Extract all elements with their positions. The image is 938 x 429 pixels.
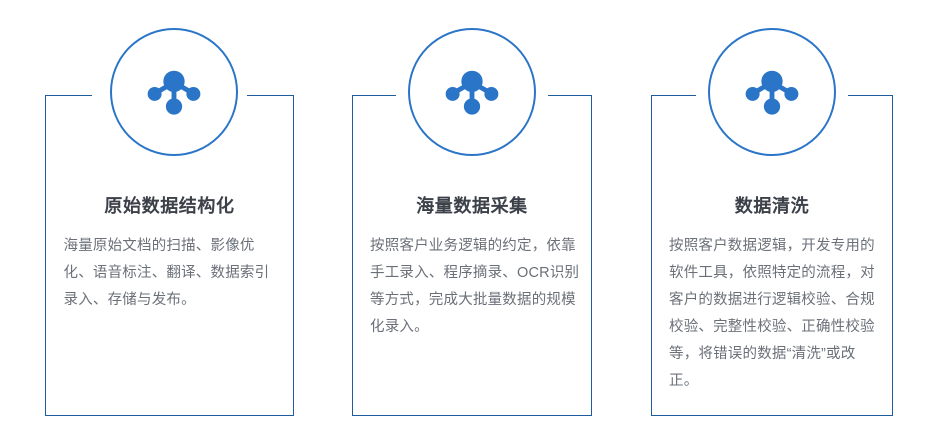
card-border-bottom: [651, 415, 893, 416]
card-title: 数据清洗: [669, 195, 875, 217]
card-icon-badge-data-cleansing: [708, 28, 836, 156]
card-border-top-left-segment: [352, 95, 396, 96]
card-border-top-right-segment: [848, 95, 893, 96]
card-content: 海量数据采集 按照客户业务逻辑的约定，依靠手工录入、程序摘录、OCR识别等方式，…: [352, 195, 592, 341]
card-description: 按照客户业务逻辑的约定，依靠手工录入、程序摘录、OCR识别等方式，完成大批量数据…: [370, 233, 582, 341]
feature-cards-panel: 原始数据结构化 海量原始文档的扫描、影像优化、语音标注、翻译、数据索引录入、存储…: [0, 0, 938, 429]
card-title: 海量数据采集: [370, 195, 574, 217]
card-border-top-left-segment: [45, 95, 92, 96]
card-title: 原始数据结构化: [63, 195, 276, 217]
card-icon-badge-mass-data-collection: [408, 28, 536, 156]
network-nodes-icon: [441, 61, 503, 123]
card-content: 原始数据结构化 海量原始文档的扫描、影像优化、语音标注、翻译、数据索引录入、存储…: [45, 195, 294, 314]
card-border-bottom: [45, 415, 294, 416]
card-description: 海量原始文档的扫描、影像优化、语音标注、翻译、数据索引录入、存储与发布。: [64, 233, 276, 314]
card-border-top-right-segment: [247, 95, 294, 96]
card-description: 按照客户数据逻辑，开发专用的软件工具，依照特定的流程，对客户的数据进行逻辑校验、…: [669, 233, 881, 395]
card-border-top-left-segment: [651, 95, 696, 96]
card-content: 数据清洗 按照客户数据逻辑，开发专用的软件工具，依照特定的流程，对客户的数据进行…: [651, 195, 893, 395]
network-nodes-icon: [143, 61, 205, 123]
card-icon-badge-raw-data-structuring: [110, 28, 238, 156]
card-border-bottom: [352, 415, 592, 416]
network-nodes-icon: [741, 61, 803, 123]
card-border-top-right-segment: [548, 95, 592, 96]
